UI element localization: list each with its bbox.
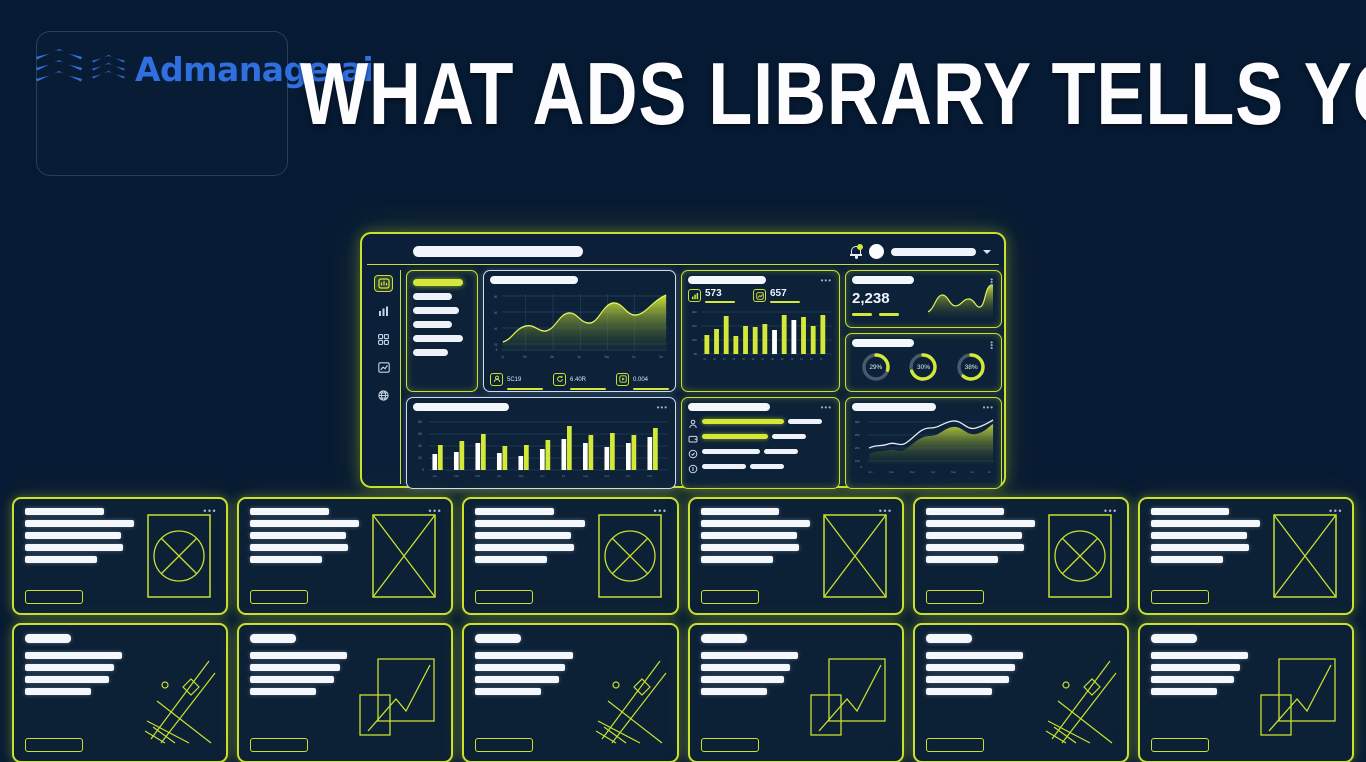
svg-text:200: 200 [855, 446, 860, 450]
notification-dot [857, 244, 863, 250]
topbar-right-group [850, 244, 991, 259]
svg-text:60: 60 [494, 311, 497, 316]
square-cross-placeholder-icon [819, 508, 891, 604]
svg-text:300: 300 [692, 324, 697, 328]
ad-card[interactable]: ••• [462, 497, 678, 615]
dashboard-sidebar [367, 270, 401, 484]
ad-card-text [926, 634, 1023, 752]
square-cross-placeholder-icon [368, 508, 440, 604]
svg-text:08: 08 [771, 357, 774, 361]
svg-text:150: 150 [855, 459, 860, 463]
ad-card-text [1151, 634, 1248, 752]
svg-text:80: 80 [418, 420, 422, 424]
svg-text:50: 50 [694, 352, 698, 356]
svg-text:0: 0 [496, 348, 498, 353]
svg-text:80: 80 [494, 295, 497, 300]
triple-chevron-logo-icon [36, 47, 82, 91]
badge-icon [688, 446, 698, 456]
ad-card-text [25, 508, 134, 604]
panel-title [490, 276, 578, 284]
svg-text:13: 13 [819, 357, 822, 361]
cta-button[interactable] [475, 738, 533, 752]
svg-text:20: 20 [418, 456, 422, 460]
ad-card[interactable] [462, 623, 678, 762]
play-icon [616, 373, 629, 386]
ad-card-text [250, 508, 359, 604]
svg-text:03: 03 [723, 357, 726, 361]
cta-button[interactable] [1151, 738, 1209, 752]
sidebar-item-grid[interactable] [374, 331, 393, 348]
dashboard-topbar [367, 239, 999, 265]
list-item-value [764, 449, 798, 454]
svg-text:12: 12 [810, 357, 813, 361]
nav-list-item[interactable] [413, 321, 452, 328]
search-input[interactable] [413, 246, 583, 257]
wallet-icon [688, 431, 698, 441]
ad-card-text [25, 634, 122, 752]
traffic-area-chart: 8060 40200 Q1FebMar AprMayJunDec [490, 288, 669, 360]
more-horizontal-icon[interactable]: ••• [1104, 506, 1118, 516]
svg-text:07: 07 [761, 357, 764, 361]
gauge-label: 38% [954, 350, 988, 384]
panel-title [413, 403, 509, 411]
more-vertical-icon[interactable]: ••• [988, 278, 994, 286]
circle-cross-placeholder-icon [143, 508, 215, 604]
ad-card-text [701, 634, 798, 752]
grouped-bar-panel: ••• 8060 40200 [406, 397, 676, 489]
ad-card-text [701, 508, 810, 604]
cta-button[interactable] [250, 738, 308, 752]
nav-list-item[interactable] [413, 279, 463, 286]
list-item-bar [702, 419, 784, 424]
svg-text:Mar: Mar [550, 355, 554, 360]
more-horizontal-icon[interactable]: ••• [657, 405, 668, 411]
svg-text:0: 0 [422, 468, 424, 472]
dashboard-body: 8060 40200 Q1FebMar AprMayJunDec [367, 265, 999, 484]
svg-text:Dec: Dec [659, 355, 664, 360]
person-icon [688, 416, 698, 426]
grouped-comparison-chart: 8060 40200 [413, 414, 669, 482]
campaign-bar-chart: 40030020050 [688, 306, 833, 366]
svg-text:300: 300 [855, 420, 860, 424]
svg-text:Feb: Feb [454, 474, 459, 478]
ad-card[interactable]: ••• [913, 497, 1129, 615]
panel-title [688, 403, 770, 411]
svg-text:40: 40 [418, 444, 422, 448]
refresh-icon [553, 373, 566, 386]
header: Admanage.ai WHAT ADS LIBRARY TELLS YOU [0, 0, 1366, 200]
bell-icon[interactable] [850, 245, 862, 258]
dashboard-main: 8060 40200 Q1FebMar AprMayJunDec [406, 270, 1002, 484]
nav-list-item[interactable] [413, 307, 459, 314]
list-item-bar [702, 449, 760, 454]
cta-button[interactable] [701, 590, 759, 604]
bar-chart-icon [688, 289, 701, 302]
more-horizontal-icon[interactable]: ••• [879, 506, 893, 516]
kpi-badge: 657 [753, 288, 800, 303]
abstract-lines-icon [131, 634, 215, 752]
more-horizontal-icon[interactable]: ••• [203, 506, 217, 516]
trend-up-chart-icon [356, 634, 440, 752]
ad-card-text [475, 634, 572, 752]
list-item-value [750, 464, 784, 469]
dashboard-mockup: 8060 40200 Q1FebMar AprMayJunDec [360, 232, 1006, 488]
svg-text:11: 11 [800, 357, 803, 361]
abstract-lines-icon [582, 634, 666, 752]
svg-text:250: 250 [855, 433, 860, 437]
gauge-label: 30% [906, 350, 940, 384]
ad-card[interactable] [913, 623, 1129, 762]
sidebar-item-dashboard[interactable] [374, 275, 393, 292]
kpi-trend-bar [852, 313, 872, 316]
bar-panel-kpis: 573 657 [688, 288, 833, 303]
circle-cross-placeholder-icon [594, 508, 666, 604]
svg-text:04: 04 [732, 357, 735, 361]
ad-card[interactable]: ••• [237, 497, 453, 615]
svg-text:05: 05 [742, 357, 745, 361]
svg-text:40: 40 [494, 327, 497, 332]
more-vertical-icon[interactable]: ••• [988, 341, 994, 349]
circle-cross-placeholder-icon [1044, 508, 1116, 604]
svg-text:Mar: Mar [475, 474, 480, 478]
abstract-lines-icon [1032, 634, 1116, 752]
square-cross-placeholder-icon [1269, 508, 1341, 604]
sidebar-item-globe[interactable] [374, 387, 393, 404]
svg-text:Jul: Jul [987, 470, 991, 474]
svg-text:Jul: Jul [561, 474, 565, 478]
list-item[interactable] [688, 446, 833, 456]
more-horizontal-icon[interactable]: ••• [1329, 506, 1343, 516]
cta-button[interactable] [1151, 590, 1209, 604]
svg-text:0: 0 [861, 465, 863, 469]
coin-icon [688, 461, 698, 471]
svg-text:May: May [518, 474, 524, 478]
sidebar-item-trends[interactable] [374, 359, 393, 376]
ad-card-text [1151, 508, 1260, 604]
kpi-value: 657 [770, 288, 800, 299]
ad-card-grid: ••• ••• ••• [0, 497, 1366, 762]
svg-text:May: May [605, 355, 610, 360]
sidebar-item-analytics[interactable] [374, 303, 393, 320]
svg-text:Feb: Feb [523, 355, 527, 360]
revenue-dual-chart: 300250 2001500 JanFebMar AprMayJunJul [852, 414, 995, 478]
svg-text:06: 06 [752, 357, 755, 361]
svg-text:01: 01 [703, 357, 706, 361]
panel-title [852, 403, 936, 411]
area-chart-panel: 8060 40200 Q1FebMar AprMayJunDec [483, 270, 676, 392]
more-horizontal-icon[interactable]: ••• [983, 405, 994, 411]
trend-up-chart-icon [1257, 634, 1341, 752]
trend-up-chart-icon [807, 634, 891, 752]
svg-text:10: 10 [790, 357, 793, 361]
ad-card-text [926, 508, 1035, 604]
cta-button[interactable] [25, 738, 83, 752]
cta-button[interactable] [475, 590, 533, 604]
list-item-bar [702, 434, 768, 439]
list-item-bar [702, 464, 746, 469]
list-item[interactable] [688, 461, 833, 471]
triple-chevron-logo-icon-small [92, 53, 125, 85]
dashboard-row-bottom: ••• 8060 40200 [406, 397, 1002, 489]
ad-card-text [475, 508, 584, 604]
svg-text:Feb: Feb [889, 470, 894, 474]
cta-button[interactable] [250, 590, 308, 604]
ad-card[interactable] [688, 623, 904, 762]
gauge-ring: 38% [954, 350, 988, 384]
trend-icon [753, 289, 766, 302]
cta-button[interactable] [926, 738, 984, 752]
page-title: WHAT ADS LIBRARY TELLS YOU [300, 46, 1153, 142]
panel-title [852, 276, 914, 284]
kpi-primary-value: 2,238 [852, 290, 926, 307]
stat-value: 5C19 [507, 377, 521, 383]
stat-value: 6.40R [570, 377, 586, 383]
list-item-value [788, 419, 822, 424]
svg-text:20: 20 [494, 343, 497, 348]
ad-card[interactable] [1138, 623, 1354, 762]
gauge-label: 29% [859, 350, 893, 384]
svg-text:Jan: Jan [868, 470, 873, 474]
chevron-down-icon[interactable] [983, 250, 991, 254]
avatar[interactable] [869, 244, 884, 259]
more-horizontal-icon[interactable]: ••• [821, 278, 832, 284]
gauge-panel: ••• 29% [845, 333, 1002, 392]
nav-list-item[interactable] [413, 293, 452, 300]
svg-text:Oct: Oct [626, 474, 631, 478]
list-panel: ••• [681, 397, 840, 489]
dashboard-row-top: 8060 40200 Q1FebMar AprMayJunDec [406, 270, 1002, 392]
nav-list-panel [406, 270, 478, 392]
svg-text:May: May [951, 470, 957, 474]
svg-text:200: 200 [692, 338, 697, 342]
cta-button[interactable] [926, 590, 984, 604]
gauge-ring: 30% [906, 350, 940, 384]
svg-text:Jun: Jun [540, 474, 545, 478]
dashboard-right-column: ••• 2,238 [845, 270, 1002, 392]
nav-list-item[interactable] [413, 335, 463, 342]
svg-text:400: 400 [692, 310, 697, 314]
user-name-label [891, 248, 976, 256]
more-horizontal-icon[interactable]: ••• [654, 506, 668, 516]
ad-card[interactable]: ••• [1138, 497, 1354, 615]
stat-badge: 6.40R [553, 368, 606, 390]
area-panel-stats: 5C19 6.40R [490, 368, 669, 390]
nav-list-item[interactable] [413, 349, 448, 356]
svg-text:09: 09 [781, 357, 784, 361]
svg-text:60: 60 [418, 432, 422, 436]
kpi-trend-bar [879, 313, 899, 316]
svg-text:Mar: Mar [910, 470, 915, 474]
ad-card-text [250, 634, 347, 752]
svg-text:Apr: Apr [577, 355, 581, 360]
list-item-value [772, 434, 806, 439]
more-horizontal-icon[interactable]: ••• [821, 405, 832, 411]
kpi-card-panel: ••• 2,238 [845, 270, 1002, 328]
svg-text:Apr: Apr [931, 470, 935, 474]
kpi-badge: 573 [688, 288, 735, 303]
svg-text:Jun: Jun [632, 355, 636, 360]
ad-card[interactable]: ••• [12, 497, 228, 615]
svg-text:Apr: Apr [497, 474, 502, 478]
bar-chart-panel: ••• 573 [681, 270, 840, 392]
line-chart-panel: ••• 300250 2001500 [845, 397, 1002, 489]
list-item[interactable] [688, 416, 833, 426]
stat-badge: 0.004 [616, 368, 669, 390]
svg-text:02: 02 [713, 357, 716, 361]
stat-badge: 5C19 [490, 368, 543, 390]
cta-button[interactable] [25, 590, 83, 604]
gauge-ring: 29% [859, 350, 893, 384]
svg-text:Sep: Sep [604, 474, 610, 478]
panel-title [852, 339, 914, 347]
kpi-sparkline [926, 280, 995, 320]
svg-text:Q1: Q1 [501, 355, 504, 360]
svg-text:Aug: Aug [583, 474, 589, 478]
list-item[interactable] [688, 431, 833, 441]
users-icon [490, 373, 503, 386]
more-horizontal-icon[interactable]: ••• [428, 506, 442, 516]
gauge-group: 29% 30% [852, 350, 995, 384]
cta-button[interactable] [701, 738, 759, 752]
ad-card[interactable] [12, 623, 228, 762]
panel-title [688, 276, 766, 284]
ad-card[interactable] [237, 623, 453, 762]
svg-text:Jun: Jun [970, 470, 975, 474]
kpi-value: 573 [705, 288, 735, 299]
stat-value: 0.004 [633, 377, 648, 383]
svg-text:Nov: Nov [647, 474, 653, 478]
ad-card[interactable]: ••• [688, 497, 904, 615]
svg-text:Jan: Jan [432, 474, 437, 478]
